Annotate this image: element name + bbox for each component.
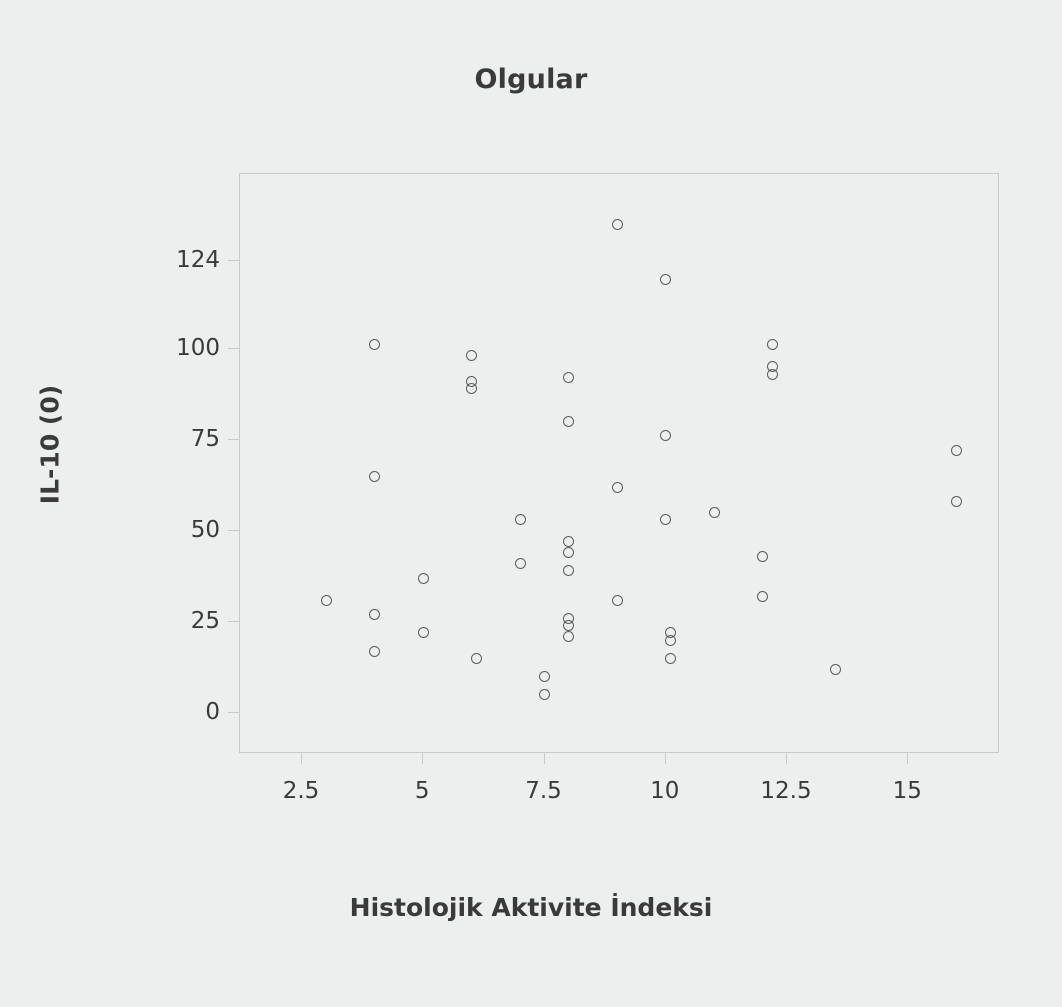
x-axis-tick-mark: [544, 753, 545, 764]
data-point: [563, 631, 574, 642]
data-point: [612, 482, 623, 493]
data-point: [563, 620, 574, 631]
data-point: [563, 565, 574, 576]
y-axis-tick-mark: [228, 530, 239, 531]
data-point: [563, 372, 574, 383]
y-axis-tick-label: 25: [191, 608, 220, 634]
x-axis-tick-label: 7.5: [525, 778, 562, 804]
x-axis-title: Histolojik Aktivite İndeksi: [0, 893, 1062, 922]
data-point: [418, 573, 429, 584]
data-point: [539, 689, 550, 700]
y-axis-title: IL-10 (0): [36, 335, 65, 555]
x-axis-tick-mark: [907, 753, 908, 764]
y-axis-tick-labels: 0255075100124: [130, 0, 220, 1007]
data-point: [563, 547, 574, 558]
data-point: [471, 653, 482, 664]
data-point: [612, 595, 623, 606]
y-axis-tick-mark: [228, 439, 239, 440]
y-axis-tick-label: 75: [191, 426, 220, 452]
x-axis-tick-label: 15: [893, 778, 922, 804]
data-point: [612, 219, 623, 230]
data-point: [539, 671, 550, 682]
y-axis-tick-mark: [228, 712, 239, 713]
data-point: [321, 595, 332, 606]
data-point: [757, 551, 768, 562]
data-point: [466, 383, 477, 394]
y-axis-tick-mark: [228, 621, 239, 622]
data-point: [665, 653, 676, 664]
y-axis-tick-mark: [228, 348, 239, 349]
y-axis-tick-mark: [228, 260, 239, 261]
y-axis-tick-label: 0: [205, 699, 220, 725]
data-point: [515, 514, 526, 525]
data-point: [369, 609, 380, 620]
data-point: [418, 627, 429, 638]
data-point: [665, 635, 676, 646]
x-axis-tick-mark: [786, 753, 787, 764]
data-point: [563, 536, 574, 547]
y-axis-tick-label: 100: [176, 335, 220, 361]
x-axis-tick-mark: [301, 753, 302, 764]
data-point: [709, 507, 720, 518]
data-point: [757, 591, 768, 602]
data-point: [466, 350, 477, 361]
data-point: [951, 445, 962, 456]
data-point: [830, 664, 841, 675]
data-point: [563, 416, 574, 427]
x-axis-tick-mark: [665, 753, 666, 764]
x-axis-tick-label: 10: [650, 778, 679, 804]
data-point: [660, 430, 671, 441]
data-points-layer: [240, 174, 1000, 754]
plot-area: [239, 173, 999, 753]
data-point: [951, 496, 962, 507]
data-point: [369, 471, 380, 482]
x-axis-tick-mark: [422, 753, 423, 764]
data-point: [369, 646, 380, 657]
x-axis-tick-label: 12.5: [760, 778, 811, 804]
data-point: [767, 369, 778, 380]
x-axis-tick-label: 2.5: [283, 778, 320, 804]
data-point: [767, 339, 778, 350]
data-point: [369, 339, 380, 350]
y-axis-tick-label: 124: [176, 247, 220, 273]
y-axis-tick-label: 50: [191, 517, 220, 543]
data-point: [515, 558, 526, 569]
x-axis-tick-label: 5: [415, 778, 430, 804]
data-point: [660, 274, 671, 285]
scatter-plot-figure: Olgular IL-10 (0) 0255075100124 2.557.51…: [0, 0, 1062, 1007]
data-point: [660, 514, 671, 525]
